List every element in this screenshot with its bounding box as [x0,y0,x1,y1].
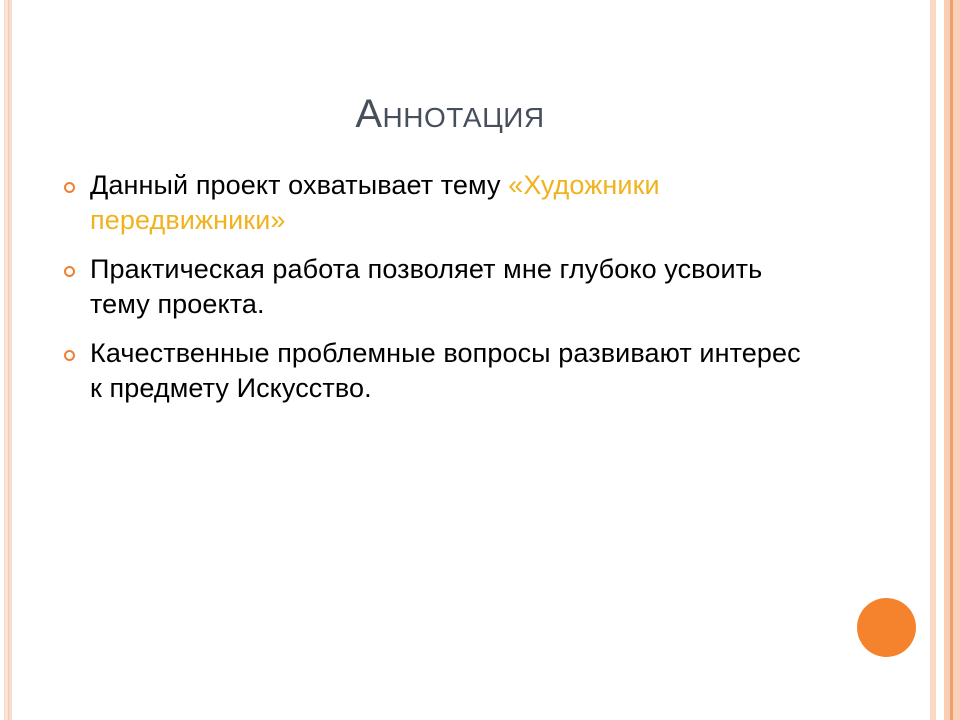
list-item: Практическая работа позволяет мне глубок… [58,252,818,322]
bullet-circle-icon [64,266,75,277]
list-item: Данный проект охватывает тему «Художники… [58,168,818,238]
bullet-circle-icon [64,350,75,361]
bullet-text-plain: Практическая работа позволяет мне глубок… [90,254,762,319]
bullet-circle-icon [64,182,75,193]
list-item: Качественные проблемные вопросы развиваю… [58,336,818,406]
bullet-list: Данный проект охватывает тему «Художники… [58,168,818,421]
right-stripe-1 [930,0,936,720]
bullet-text-plain: Данный проект охватывает тему [90,170,508,200]
bullet-text-plain: Качественные проблемные вопросы развиваю… [90,338,801,403]
slide-canvas: Аннотация Данный проект охватывает тему … [0,0,960,720]
orange-accent-circle [857,598,916,657]
right-stripe-4 [953,0,960,720]
right-decorative-stripes [915,0,960,720]
slide-title: Аннотация [0,92,900,137]
